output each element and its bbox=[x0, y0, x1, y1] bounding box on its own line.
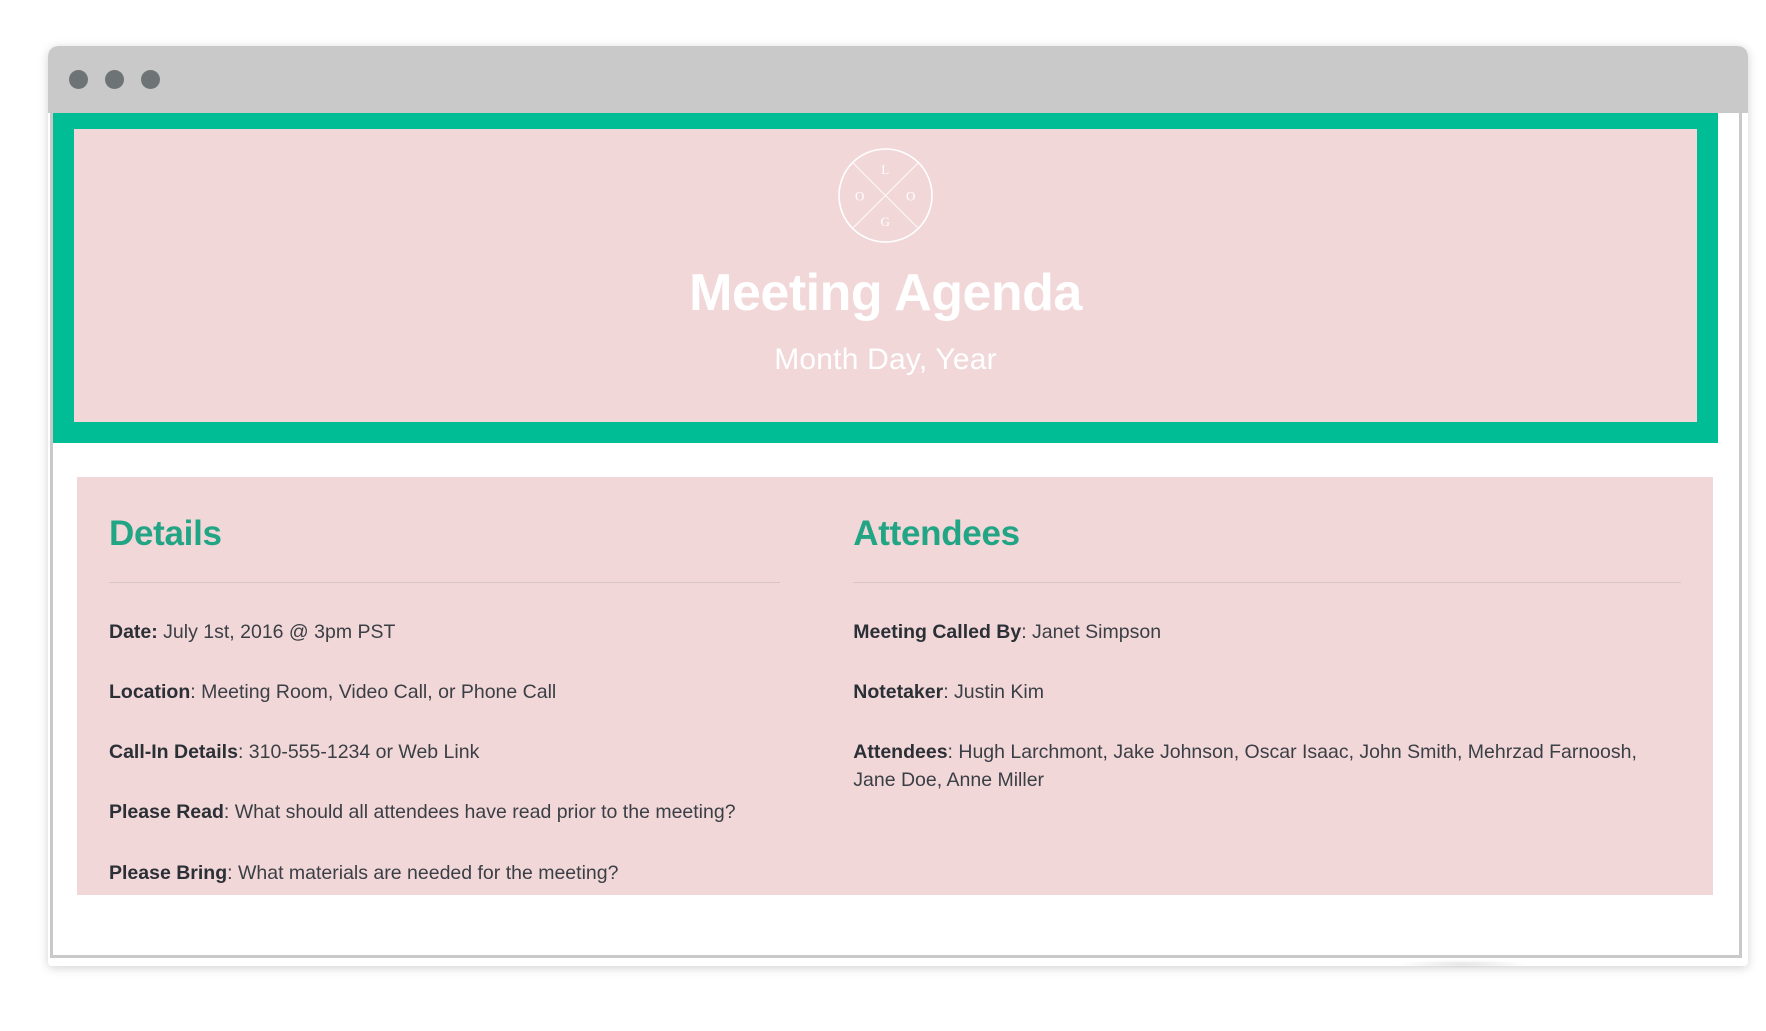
detail-label-callin: Call-In Details bbox=[109, 741, 238, 763]
attendee-value-list: : Hugh Larchmont, Jake Johnson, Oscar Is… bbox=[853, 741, 1637, 791]
hero-inner-panel: L O O G Meeting Agenda Month Day, Year bbox=[74, 129, 1697, 422]
logo-letter-right: O bbox=[906, 189, 916, 204]
detail-value-please-bring: : What materials are needed for the meet… bbox=[227, 862, 618, 884]
detail-label-please-read: Please Read bbox=[109, 801, 224, 823]
attendee-row-called-by: Meeting Called By: Janet Simpson bbox=[853, 618, 1681, 646]
detail-value-location: : Meeting Room, Video Call, or Phone Cal… bbox=[190, 681, 556, 703]
attendee-value-called-by: : Janet Simpson bbox=[1021, 621, 1161, 643]
window-controls bbox=[69, 70, 160, 89]
attendee-row-list: Attendees: Hugh Larchmont, Jake Johnson,… bbox=[853, 738, 1681, 795]
detail-value-callin: : 310-555-1234 or Web Link bbox=[238, 741, 479, 763]
detail-label-location: Location bbox=[109, 681, 190, 703]
close-dot-icon[interactable] bbox=[69, 70, 88, 89]
attendee-row-notetaker: Notetaker: Justin Kim bbox=[853, 678, 1681, 706]
details-column: Details Date: July 1st, 2016 @ 3pm PST L… bbox=[109, 515, 798, 895]
detail-label-please-bring: Please Bring bbox=[109, 862, 227, 884]
hero-banner: L O O G Meeting Agenda Month Day, Year bbox=[53, 113, 1718, 443]
minimize-dot-icon[interactable] bbox=[105, 70, 124, 89]
logo-letter-bottom: G bbox=[881, 214, 891, 229]
detail-row-please-bring: Please Bring: What materials are needed … bbox=[109, 859, 780, 887]
detail-row-callin: Call-In Details: 310-555-1234 or Web Lin… bbox=[109, 738, 780, 766]
column-gap bbox=[798, 515, 854, 895]
attendee-value-notetaker: : Justin Kim bbox=[943, 681, 1044, 703]
document-viewport: L O O G Meeting Agenda Month Day, Year D… bbox=[50, 113, 1742, 958]
page-title: Meeting Agenda bbox=[689, 266, 1082, 321]
attendees-heading: Attendees bbox=[853, 515, 1681, 554]
browser-window: L O O G Meeting Agenda Month Day, Year D… bbox=[48, 46, 1748, 966]
detail-row-location: Location: Meeting Room, Video Call, or P… bbox=[109, 678, 780, 706]
detail-row-date: Date: July 1st, 2016 @ 3pm PST bbox=[109, 618, 780, 646]
detail-value-date: July 1st, 2016 @ 3pm PST bbox=[158, 621, 396, 643]
page-root: L O O G Meeting Agenda Month Day, Year D… bbox=[0, 0, 1766, 1031]
details-heading: Details bbox=[109, 515, 780, 554]
attendees-column: Attendees Meeting Called By: Janet Simps… bbox=[853, 515, 1681, 895]
content-panel: Details Date: July 1st, 2016 @ 3pm PST L… bbox=[77, 477, 1713, 895]
detail-row-please-read: Please Read: What should all attendees h… bbox=[109, 798, 780, 826]
browser-titlebar bbox=[48, 46, 1748, 113]
detail-value-please-read: : What should all attendees have read pr… bbox=[224, 801, 736, 823]
attendee-label-list: Attendees bbox=[853, 741, 947, 763]
attendees-divider bbox=[853, 582, 1681, 583]
details-divider bbox=[109, 582, 780, 583]
logo-letter-left: O bbox=[855, 189, 865, 204]
detail-label-date: Date: bbox=[109, 621, 158, 643]
attendee-label-called-by: Meeting Called By bbox=[853, 621, 1021, 643]
page-subtitle: Month Day, Year bbox=[774, 343, 997, 377]
attendee-label-notetaker: Notetaker bbox=[853, 681, 943, 703]
logo-placeholder-icon: L O O G bbox=[837, 147, 934, 244]
logo-letter-top: L bbox=[881, 162, 889, 177]
maximize-dot-icon[interactable] bbox=[141, 70, 160, 89]
